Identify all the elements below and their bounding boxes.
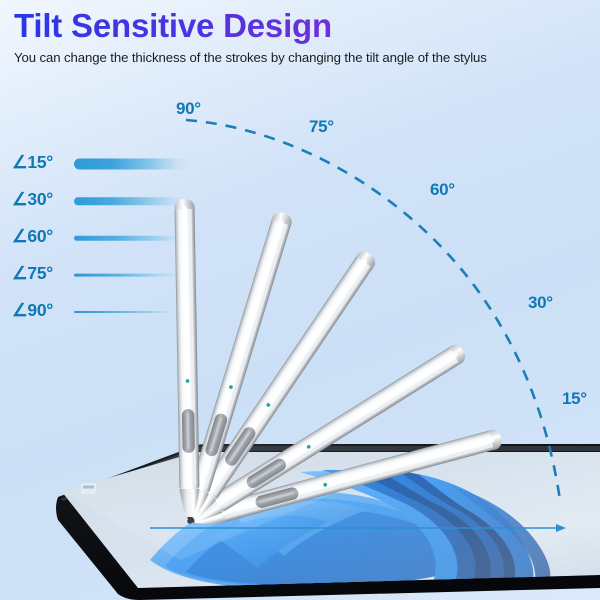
- desktop-icon[interactable]: [81, 483, 96, 494]
- tablet-illustration: [0, 0, 600, 600]
- product-feature-image: Tilt Sensitive Design You can change the…: [0, 0, 600, 600]
- arc-label-75: 75°: [309, 117, 334, 137]
- arc-label-30: 30°: [528, 293, 553, 313]
- tablet-screen: [62, 452, 600, 589]
- arc-label-90: 90°: [176, 99, 201, 119]
- arc-label-60: 60°: [430, 180, 455, 200]
- arc-label-15: 15°: [562, 389, 587, 409]
